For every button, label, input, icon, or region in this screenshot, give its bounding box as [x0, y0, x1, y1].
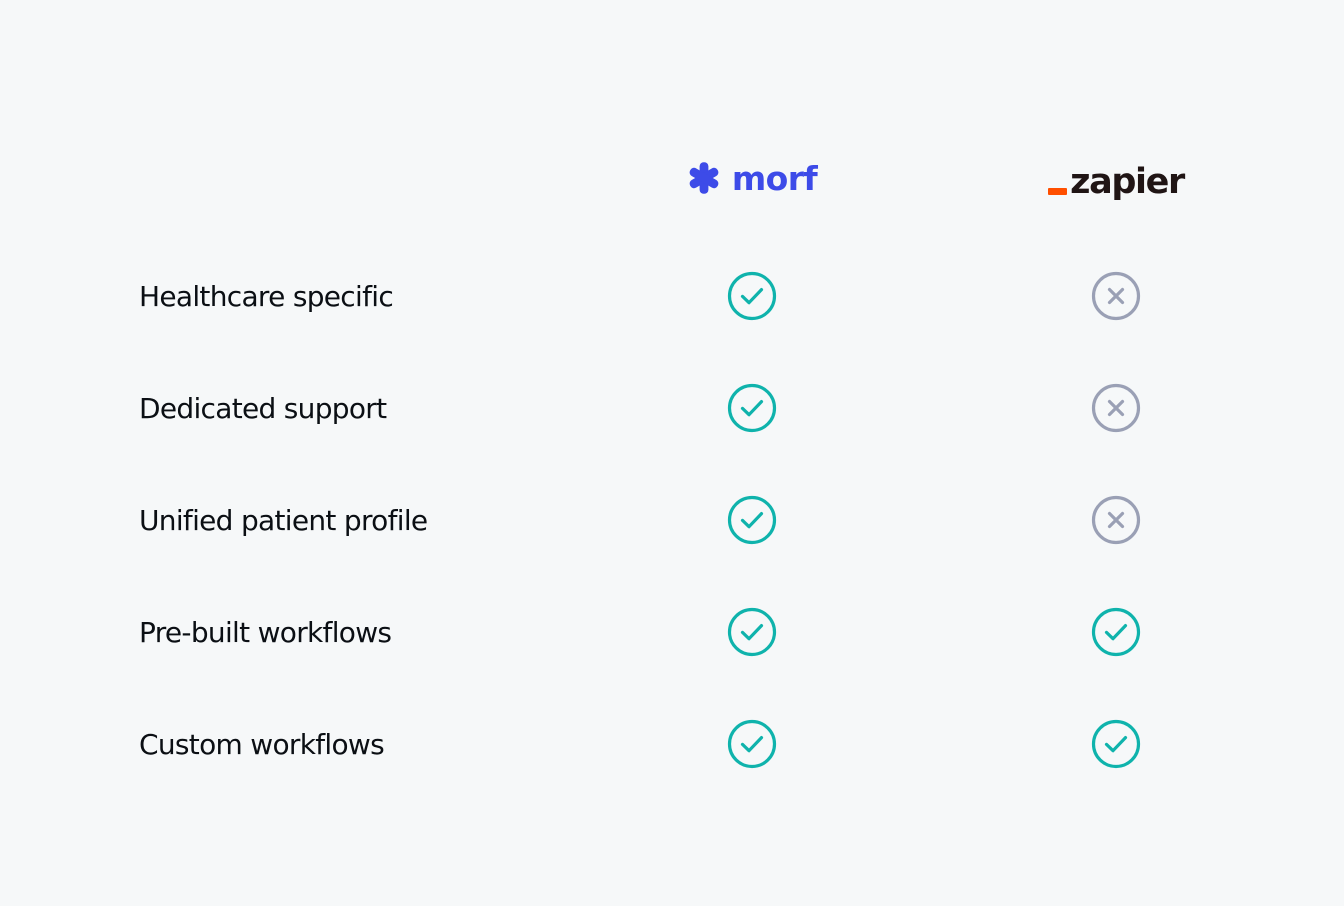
check-circle-icon	[727, 607, 777, 657]
zapier-wordmark: zapier	[1070, 165, 1184, 200]
cell-zapier	[1004, 495, 1228, 545]
zapier-logo: zapier	[1048, 165, 1184, 200]
check-circle-icon	[727, 495, 777, 545]
table-row: Unified patient profile	[0, 464, 1344, 576]
comparison-header-row: morf zapier	[0, 140, 1344, 220]
cell-morf	[640, 495, 864, 545]
cell-zapier	[1004, 719, 1228, 769]
morf-wordmark: morf	[732, 162, 817, 195]
morf-logo: morf	[687, 161, 817, 195]
check-circle-icon	[727, 383, 777, 433]
x-circle-icon	[1091, 271, 1141, 321]
check-circle-icon	[727, 271, 777, 321]
x-circle-icon	[1091, 383, 1141, 433]
check-circle-icon	[1091, 719, 1141, 769]
cell-morf	[640, 607, 864, 657]
feature-label: Dedicated support	[0, 392, 640, 425]
feature-label: Pre-built workflows	[0, 616, 640, 649]
cell-zapier	[1004, 607, 1228, 657]
table-row: Pre-built workflows	[0, 576, 1344, 688]
cell-morf	[640, 271, 864, 321]
comparison-rows: Healthcare specific Dedicated support	[0, 240, 1344, 800]
feature-comparison-table: morf zapier Healthcare specific	[0, 0, 1344, 906]
check-circle-icon	[727, 719, 777, 769]
cell-morf	[640, 383, 864, 433]
cell-zapier	[1004, 271, 1228, 321]
cell-zapier	[1004, 383, 1228, 433]
asterisk-icon	[687, 161, 721, 195]
table-row: Dedicated support	[0, 352, 1344, 464]
x-circle-icon	[1091, 495, 1141, 545]
table-row: Healthcare specific	[0, 240, 1344, 352]
feature-label: Custom workflows	[0, 728, 640, 761]
check-circle-icon	[1091, 607, 1141, 657]
vendor-column-zapier: zapier	[1004, 163, 1228, 198]
feature-label: Unified patient profile	[0, 504, 640, 537]
dash-icon	[1048, 188, 1067, 195]
table-row: Custom workflows	[0, 688, 1344, 800]
vendor-column-morf: morf	[640, 163, 864, 197]
feature-label: Healthcare specific	[0, 280, 640, 313]
cell-morf	[640, 719, 864, 769]
